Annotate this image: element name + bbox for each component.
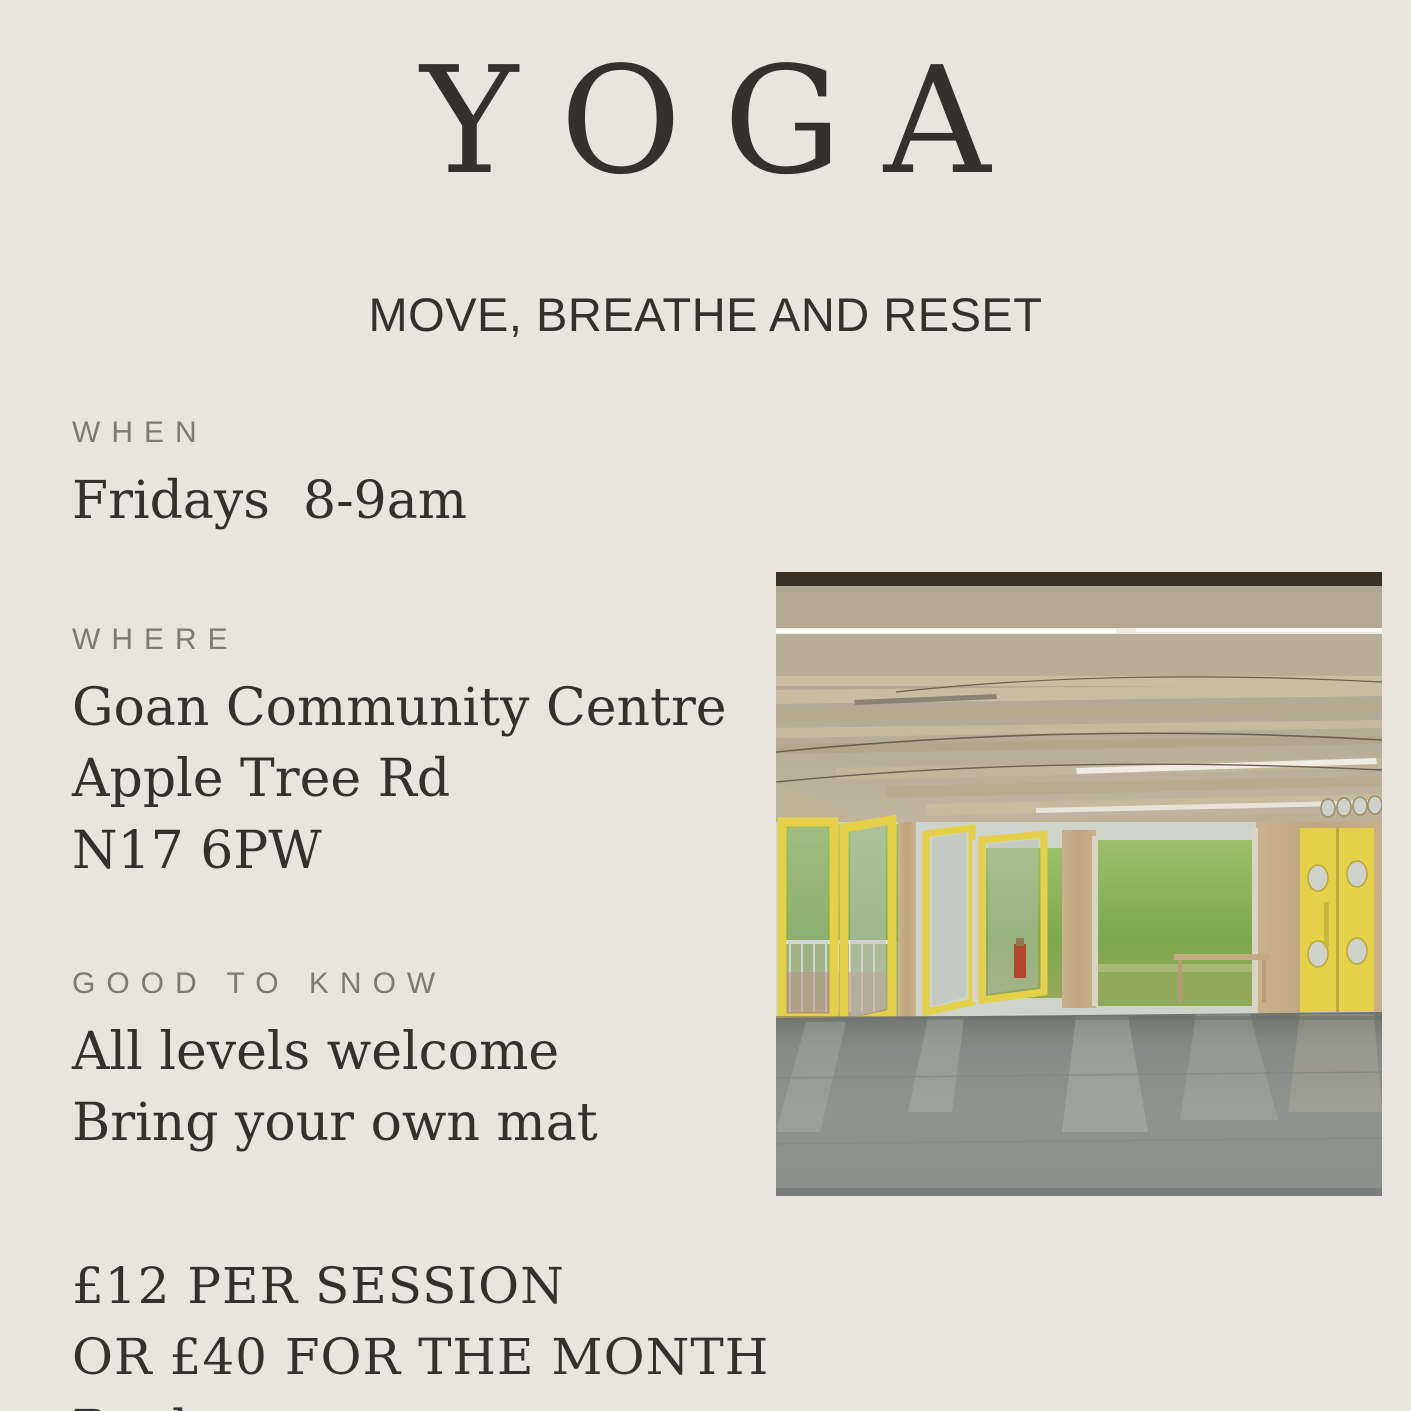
section-pricing: £12 PER SESSION OR £40 FOR THE MONTH Boo… bbox=[72, 1251, 762, 1411]
when-value: Fridays 8-9am bbox=[72, 466, 762, 537]
booking-line-cropped: Book bbox=[72, 1393, 762, 1411]
yoga-poster: YOGA MOVE, BREATHE AND RESET WHEN Friday… bbox=[0, 0, 1411, 1411]
good-to-know-line-1: All levels welcome bbox=[72, 1017, 762, 1088]
community-hall-photo bbox=[776, 572, 1382, 1196]
section-good-to-know: GOOD TO KNOW All levels welcome Bring yo… bbox=[72, 969, 762, 1159]
info-column: WHEN Fridays 8-9am WHERE Goan Community … bbox=[72, 418, 762, 1411]
good-to-know-line-2: Bring your own mat bbox=[72, 1088, 762, 1159]
section-where: WHERE Goan Community Centre Apple Tree R… bbox=[72, 625, 762, 887]
price-per-session: £12 PER SESSION bbox=[72, 1251, 762, 1322]
page-title: YOGA bbox=[0, 36, 1411, 206]
section-label-good-to-know: GOOD TO KNOW bbox=[72, 969, 762, 999]
where-street: Apple Tree Rd bbox=[72, 744, 762, 815]
page-subtitle: MOVE, BREATHE AND RESET bbox=[0, 287, 1411, 342]
spacer-where bbox=[72, 887, 762, 969]
spacer-when bbox=[72, 537, 762, 625]
where-venue: Goan Community Centre bbox=[72, 673, 762, 744]
spacer-pricing bbox=[72, 1159, 762, 1251]
section-when: WHEN Fridays 8-9am bbox=[72, 418, 762, 537]
hall-illustration bbox=[776, 572, 1382, 1196]
section-label-when: WHEN bbox=[72, 418, 762, 448]
section-label-where: WHERE bbox=[72, 625, 762, 655]
price-monthly: OR £40 FOR THE MONTH bbox=[72, 1322, 762, 1393]
where-postcode: N17 6PW bbox=[72, 816, 762, 887]
